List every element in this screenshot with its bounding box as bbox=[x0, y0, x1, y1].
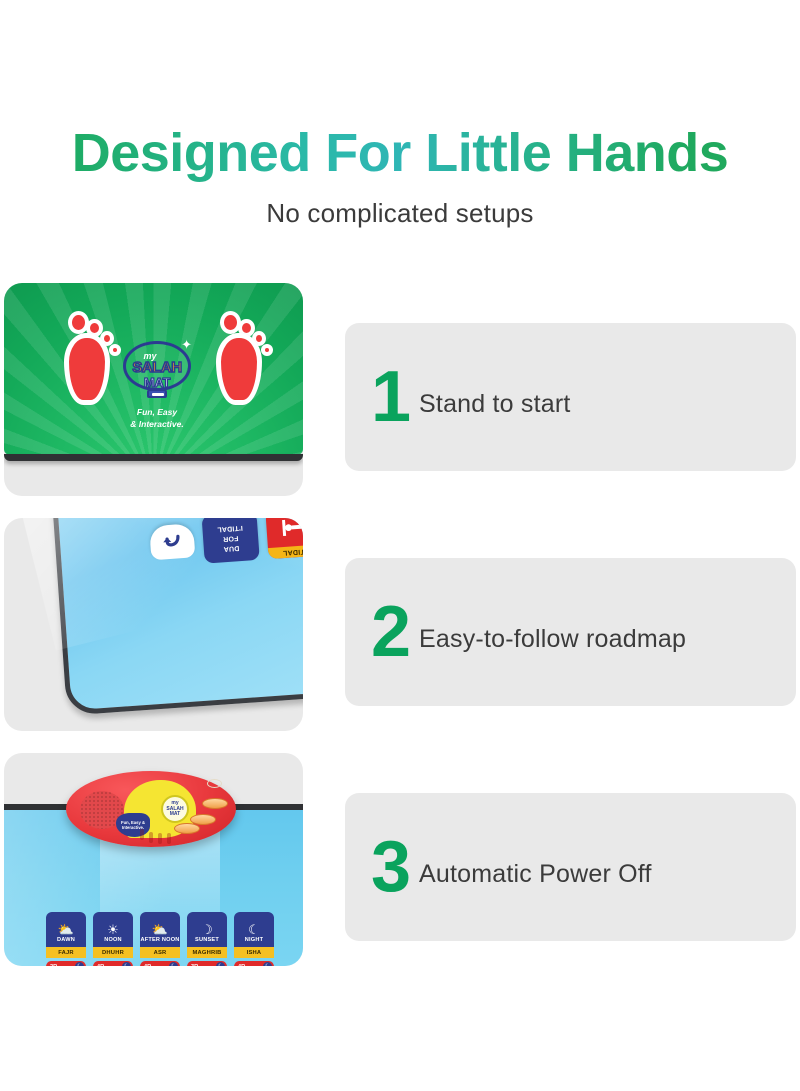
crescent-moon-icon: ☾ bbox=[248, 923, 260, 936]
step-number-3: 3 bbox=[371, 837, 409, 898]
rakat-count-1: 4R bbox=[97, 964, 104, 967]
blue-mat-clip: DUAFORI'TIDAL I'TIDAL bbox=[4, 518, 303, 731]
step-row-2: DUAFORI'TIDAL I'TIDAL bbox=[0, 518, 800, 731]
logo-mat-graphic-icon bbox=[147, 389, 167, 398]
page-subtitle: No complicated setups bbox=[0, 198, 800, 229]
moon-icon-1: ☾ bbox=[122, 962, 131, 966]
prayer-ar-label-3: MAGHRIB bbox=[187, 947, 227, 958]
tagline-line-1: Fun, Easy bbox=[137, 407, 177, 417]
prayer-en-label-4: NIGHT bbox=[245, 938, 263, 944]
step-number-1: 1 bbox=[371, 367, 409, 428]
prayer-tile-asr-top: ⛅ AFTER NOON bbox=[140, 912, 180, 947]
moon-icon-0: ☾ bbox=[75, 962, 84, 966]
rakat-pill-4: 4R ☾ bbox=[234, 961, 274, 966]
salah-mat-logo: ✦ my SALAH MAT bbox=[121, 339, 193, 401]
prayer-tile-fajr-top: ⛅ DAWN bbox=[46, 912, 86, 947]
blue-sky-mat-image: DUAFORI'TIDAL I'TIDAL bbox=[50, 518, 303, 716]
prayer-tile-maghrib: ☽ SUNSET MAGHRIB 3R ☾ bbox=[187, 912, 227, 966]
speaker-device: my SALAH MAT Fun, Easy & Interactive. bbox=[66, 771, 236, 847]
prayer-en-label-2: AFTER NOON bbox=[141, 938, 180, 944]
right-footprint-icon bbox=[200, 311, 258, 407]
rakat-count-4: 4R bbox=[238, 964, 245, 967]
prayer-en-label-0: DAWN bbox=[57, 938, 75, 944]
sun-icon: ☀ bbox=[107, 923, 119, 936]
product-image-panel-2: DUAFORI'TIDAL I'TIDAL bbox=[4, 518, 303, 731]
step-card-1: 1 Stand to start bbox=[345, 323, 796, 471]
step-number-2: 2 bbox=[371, 602, 409, 663]
tile-dua-for-itidal-label: DUAFORI'TIDAL bbox=[217, 522, 245, 554]
logo-sparkle-icon: ✦ bbox=[181, 337, 192, 353]
device-button-3[interactable] bbox=[174, 823, 200, 834]
tile-itidal: I'TIDAL bbox=[265, 518, 303, 559]
partly-cloudy-icon: ⛅ bbox=[152, 923, 168, 936]
device-slot-1 bbox=[140, 829, 144, 840]
logo-salah-text: SALAH bbox=[132, 359, 181, 376]
step-label-2: Easy-to-follow roadmap bbox=[419, 625, 686, 654]
rakat-count-2: 4R bbox=[144, 964, 151, 967]
steps-list: ✦ my SALAH MAT Fun, Easy & Interactive. … bbox=[0, 283, 800, 966]
prayer-ar-label-1: DHUHR bbox=[93, 947, 133, 958]
logo-mat-text: MAT bbox=[144, 375, 170, 390]
tile-dua-for-itidal: DUAFORI'TIDAL bbox=[202, 518, 260, 564]
sunrise-icon: ⛅ bbox=[58, 923, 74, 936]
prayer-tile-isha: ☾ NIGHT ISHA 4R ☾ bbox=[234, 912, 274, 966]
sunset-icon: ☽ bbox=[201, 923, 213, 936]
prayer-tile-dhuhr: ☀ NOON DHUHR 4R ☾ bbox=[93, 912, 133, 966]
product-image-panel-3: ⛅ DAWN FAJR 2R ☾ ☀ NOON bbox=[4, 753, 303, 966]
rakat-count-0: 2R bbox=[50, 964, 57, 967]
step-card-3: 3 Automatic Power Off bbox=[345, 793, 796, 941]
device-button-1[interactable] bbox=[202, 798, 228, 809]
prayer-tile-fajr: ⛅ DAWN FAJR 2R ☾ bbox=[46, 912, 86, 966]
prayer-tile-maghrib-top: ☽ SUNSET bbox=[187, 912, 227, 947]
moon-icon-3: ☾ bbox=[216, 962, 225, 966]
rakat-count-3: 3R bbox=[191, 964, 198, 967]
device-slot-3 bbox=[158, 833, 162, 844]
prayer-ar-label-4: ISHA bbox=[234, 947, 274, 958]
moon-icon-2: ☾ bbox=[169, 962, 178, 966]
prayer-tile-asr: ⛅ AFTER NOON ASR 4R ☾ bbox=[140, 912, 180, 966]
prayer-en-label-1: NOON bbox=[104, 938, 122, 944]
step-label-3: Automatic Power Off bbox=[419, 860, 652, 889]
prayer-en-label-3: SUNSET bbox=[195, 938, 219, 944]
left-footprint-icon bbox=[42, 311, 100, 407]
device-logo-badge: my SALAH MAT bbox=[161, 795, 189, 823]
prayer-ar-label-0: FAJR bbox=[46, 947, 86, 958]
tagline-line-2: & Interactive. bbox=[130, 419, 183, 429]
prayer-tile-dhuhr-top: ☀ NOON bbox=[93, 912, 133, 947]
prayer-tile-isha-top: ☾ NIGHT bbox=[234, 912, 274, 947]
rakat-pill-3: 3R ☾ bbox=[187, 961, 227, 966]
itidal-posture-icon bbox=[278, 518, 303, 547]
device-tagline-badge: Fun, Easy & Interactive. bbox=[116, 813, 150, 837]
step-row-1: ✦ my SALAH MAT Fun, Easy & Interactive. … bbox=[0, 283, 800, 496]
product-tagline: Fun, Easy & Interactive. bbox=[114, 407, 200, 430]
step-card-2: 2 Easy-to-follow roadmap bbox=[345, 558, 796, 706]
rakat-pill-0: 2R ☾ bbox=[46, 961, 86, 966]
step-label-1: Stand to start bbox=[419, 390, 571, 419]
green-prayer-mat-image: ✦ my SALAH MAT Fun, Easy & Interactive. bbox=[4, 283, 303, 455]
moon-icon-4: ☾ bbox=[263, 962, 272, 966]
power-knob-icon bbox=[207, 779, 222, 788]
page-title: Designed For Little Hands bbox=[0, 124, 800, 182]
prayer-times-row: ⛅ DAWN FAJR 2R ☾ ☀ NOON bbox=[46, 912, 274, 966]
device-slot-2 bbox=[149, 832, 153, 843]
rakat-pill-2: 4R ☾ bbox=[140, 961, 180, 966]
step-row-3: ⛅ DAWN FAJR 2R ☾ ☀ NOON bbox=[0, 753, 800, 966]
page-header: Designed For Little Hands No complicated… bbox=[0, 0, 800, 229]
product-image-panel-1: ✦ my SALAH MAT Fun, Easy & Interactive. bbox=[4, 283, 303, 496]
direction-arrow-icon bbox=[149, 524, 195, 561]
rakat-pill-1: 4R ☾ bbox=[93, 961, 133, 966]
prayer-ar-label-2: ASR bbox=[140, 947, 180, 958]
device-slot-4 bbox=[167, 833, 171, 844]
